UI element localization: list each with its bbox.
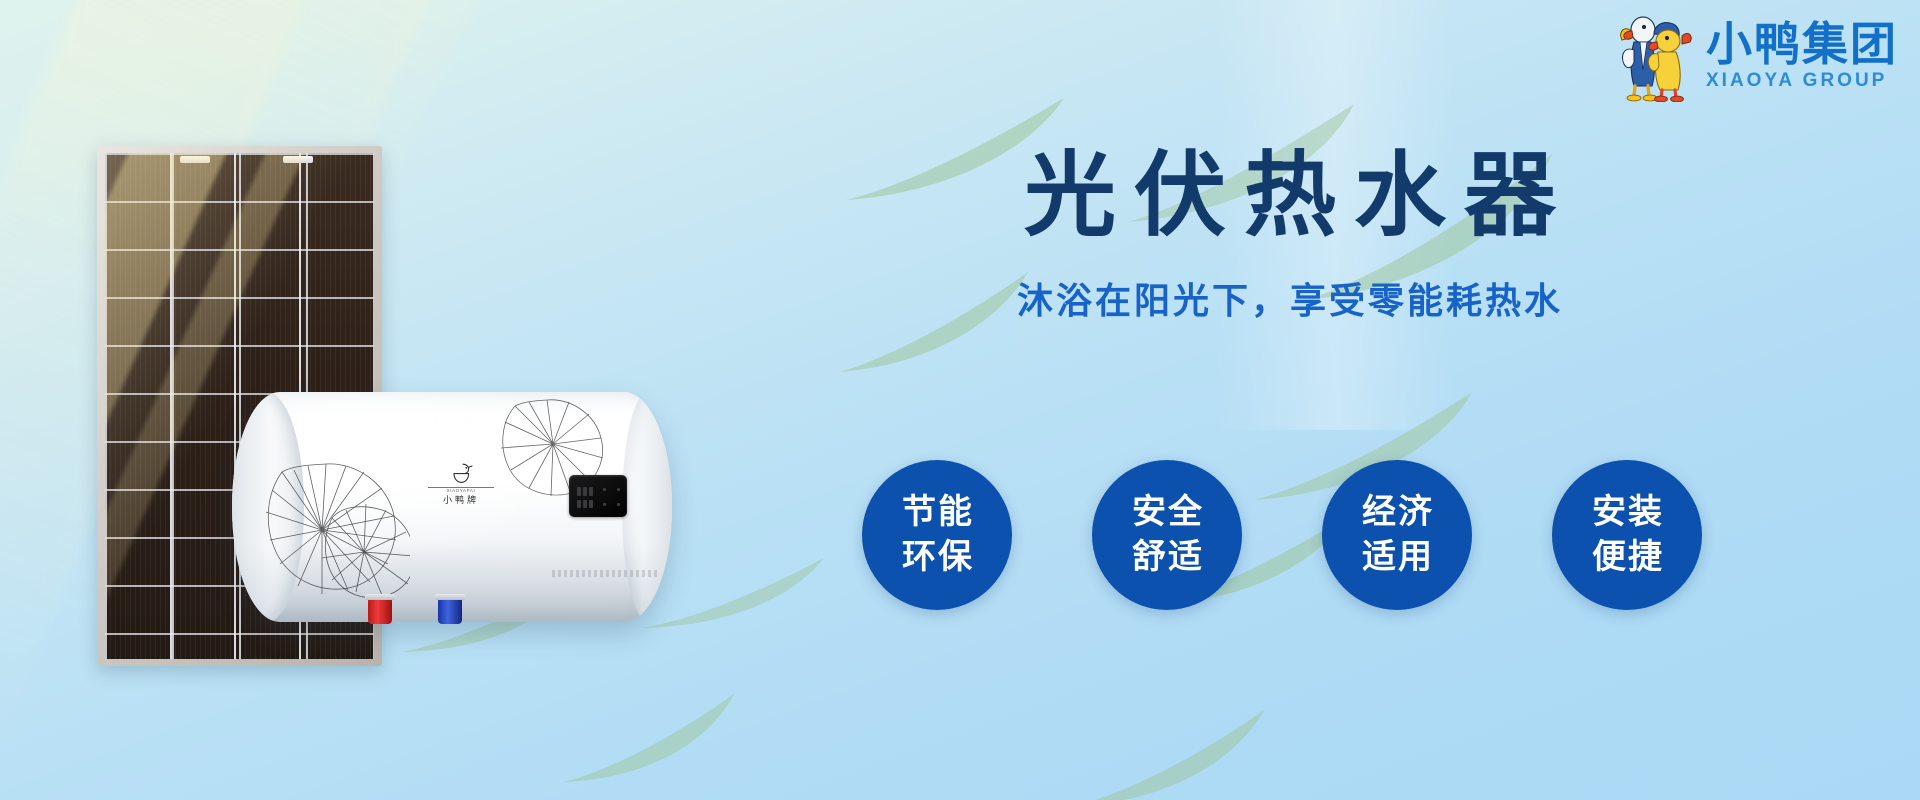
company-name-en: XIAOYA GROUP — [1706, 71, 1887, 92]
page-subtitle: 沐浴在阳光下，享受零能耗热水 — [880, 272, 1700, 324]
water-heater-product: XIAOYAPAI 小鸭牌 — [232, 392, 672, 622]
promo-banner: XIAOYAPAI 小鸭牌 光伏热水器 沐浴在阳光下，享受零能 — [0, 0, 1920, 800]
feature-badge-economical[interactable]: 经济 适用 — [1322, 460, 1472, 610]
company-logo[interactable]: 小鸭集团 XIAOYA GROUP — [1610, 10, 1898, 102]
feature-badge-easy-install[interactable]: 安装 便捷 — [1552, 460, 1702, 610]
product-brand-cn: 小鸭牌 — [428, 495, 494, 506]
badge-line-2: 适用 — [1360, 535, 1434, 580]
badge-line-2: 舒适 — [1130, 535, 1204, 580]
sun-ray-icon — [0, 0, 45, 637]
badge-line-2: 环保 — [900, 535, 974, 580]
badge-line-2: 便捷 — [1590, 535, 1664, 580]
water-heater-tank: XIAOYAPAI 小鸭牌 — [232, 392, 672, 622]
two-ducks-mascot-icon — [1610, 10, 1696, 102]
feature-badge-energy-saving[interactable]: 节能 环保 — [862, 460, 1012, 610]
product-brand-mark: XIAOYAPAI 小鸭牌 — [428, 460, 494, 505]
company-logo-text: 小鸭集团 XIAOYA GROUP — [1706, 20, 1898, 91]
leaf-icon — [560, 690, 740, 790]
feature-badge-safe-comfortable[interactable]: 安全 舒适 — [1092, 460, 1242, 610]
badge-line-1: 经济 — [1360, 490, 1434, 535]
headline-block: 光伏热水器 沐浴在阳光下，享受零能耗热水 — [880, 148, 1700, 324]
cold-water-pipe-icon — [438, 598, 462, 624]
leaf-icon — [1070, 706, 1270, 800]
page-title: 光伏热水器 — [880, 148, 1700, 246]
hot-water-pipe-icon — [368, 598, 392, 624]
product-rating-label — [552, 570, 660, 577]
duck-logo-icon — [448, 460, 474, 486]
company-name-cn: 小鸭集团 — [1706, 20, 1898, 68]
badge-line-1: 安全 — [1130, 490, 1204, 535]
digital-control-panel-icon[interactable] — [569, 475, 627, 517]
badge-line-1: 节能 — [900, 490, 974, 535]
product-brand-en: XIAOYAPAI — [428, 487, 494, 494]
tank-highlight — [338, 415, 540, 431]
badge-line-1: 安装 — [1590, 490, 1664, 535]
feature-badge-list: 节能 环保 安全 舒适 经济 适用 安装 便捷 — [862, 460, 1702, 610]
